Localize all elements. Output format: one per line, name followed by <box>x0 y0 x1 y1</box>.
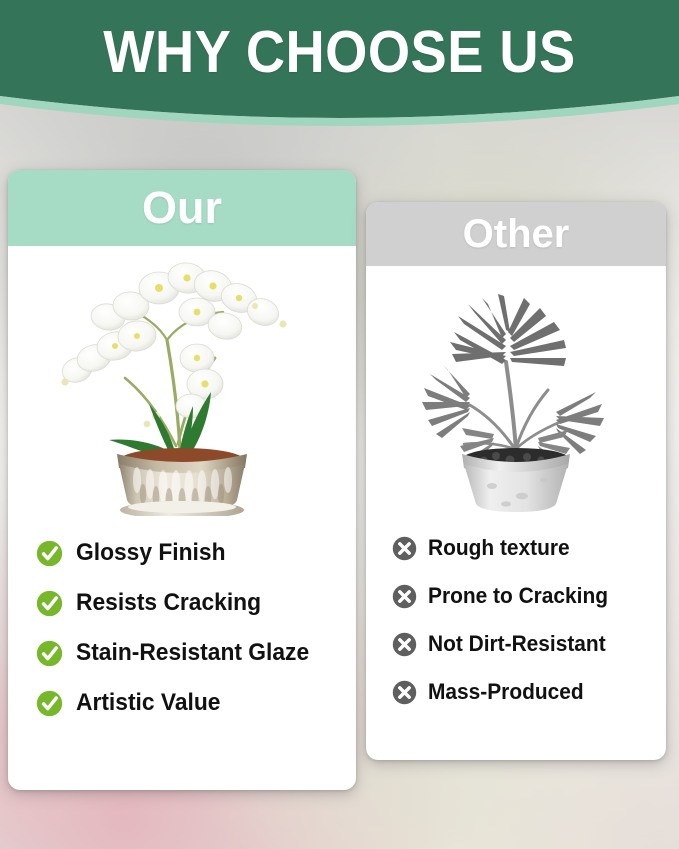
comparison-infographic: WHY CHOOSE US Our <box>0 0 679 849</box>
check-circle-icon <box>36 540 63 567</box>
feature-row[interactable]: Prone to Cracking <box>392 572 666 620</box>
feature-row[interactable]: Not Dirt-Resistant <box>392 620 666 668</box>
feature-row[interactable]: Glossy Finish <box>36 528 356 578</box>
check-circle-icon <box>36 640 63 667</box>
feature-label: Glossy Finish <box>76 539 226 567</box>
card-our-product-image <box>8 246 356 516</box>
feature-row[interactable]: Resists Cracking <box>36 578 356 628</box>
card-other-feature-list: Rough texture Prone to Cracking Not Dirt… <box>366 524 666 716</box>
card-our[interactable]: Our <box>8 170 356 790</box>
feature-row[interactable]: Artistic Value <box>36 678 356 728</box>
card-our-feature-list: Glossy Finish Resists Cracking Stain-Res… <box>8 528 356 728</box>
cross-circle-icon <box>392 680 417 705</box>
feature-row[interactable]: Mass-Produced <box>392 668 666 716</box>
check-circle-icon <box>36 690 63 717</box>
check-circle-icon <box>36 590 63 617</box>
card-our-heading: Our <box>8 170 356 246</box>
grayscale-palm-plant-in-plain-pot-icon <box>396 272 636 516</box>
feature-label: Stain-Resistant Glaze <box>76 639 309 667</box>
feature-label: Prone to Cracking <box>428 583 608 609</box>
feature-label: Resists Cracking <box>76 589 261 617</box>
cross-circle-icon <box>392 536 417 561</box>
feature-row[interactable]: Rough texture <box>392 524 666 572</box>
card-other-product-image <box>366 266 666 516</box>
page-title: WHY CHOOSE US <box>27 19 652 85</box>
white-orchid-in-textured-ceramic-pot-icon <box>47 254 317 516</box>
cross-circle-icon <box>392 632 417 657</box>
feature-label: Artistic Value <box>76 689 220 717</box>
feature-label: Rough texture <box>428 535 570 561</box>
feature-label: Mass-Produced <box>428 679 584 705</box>
card-other-heading: Other <box>366 202 666 266</box>
card-other[interactable]: Other <box>366 202 666 760</box>
feature-label: Not Dirt-Resistant <box>428 631 606 657</box>
cross-circle-icon <box>392 584 417 609</box>
header-banner: WHY CHOOSE US <box>0 0 679 132</box>
feature-row[interactable]: Stain-Resistant Glaze <box>36 628 356 678</box>
